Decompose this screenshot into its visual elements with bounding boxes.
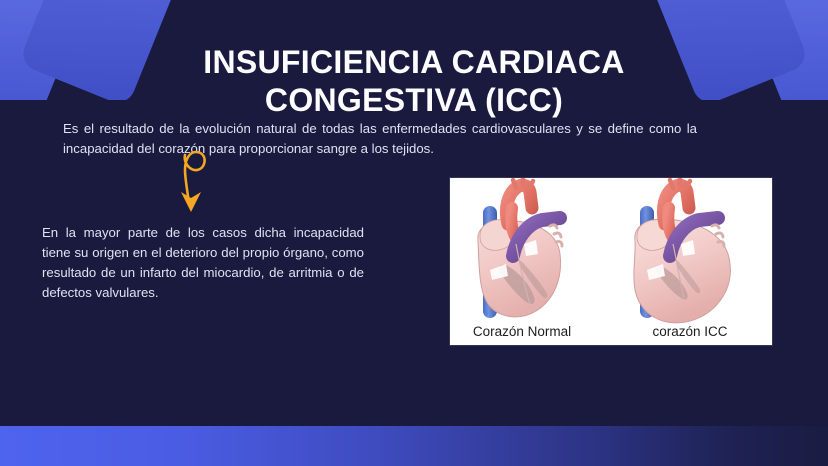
icc-heart-caption: corazón ICC [652, 324, 727, 339]
slide-title: INSUFICIENCIA CARDIACA CONGESTIVA (ICC) [0, 43, 828, 119]
body-paragraph: En la mayor parte de los casos dicha inc… [42, 223, 364, 303]
presentation-slide: INSUFICIENCIA CARDIACA CONGESTIVA (ICC) … [0, 0, 828, 466]
intro-paragraph: Es el resultado de la evolución natural … [63, 119, 697, 159]
curved-loop-arrow-icon [163, 140, 225, 216]
slide-title-line-2: CONGESTIVA (ICC) [0, 81, 828, 119]
bottom-gradient-bar [0, 426, 828, 466]
normal-heart-caption: Corazón Normal [473, 324, 571, 339]
heart-comparison-figure: Corazón Normal [450, 178, 772, 345]
slide-title-line-1: INSUFICIENCIA CARDIACA [0, 43, 828, 81]
